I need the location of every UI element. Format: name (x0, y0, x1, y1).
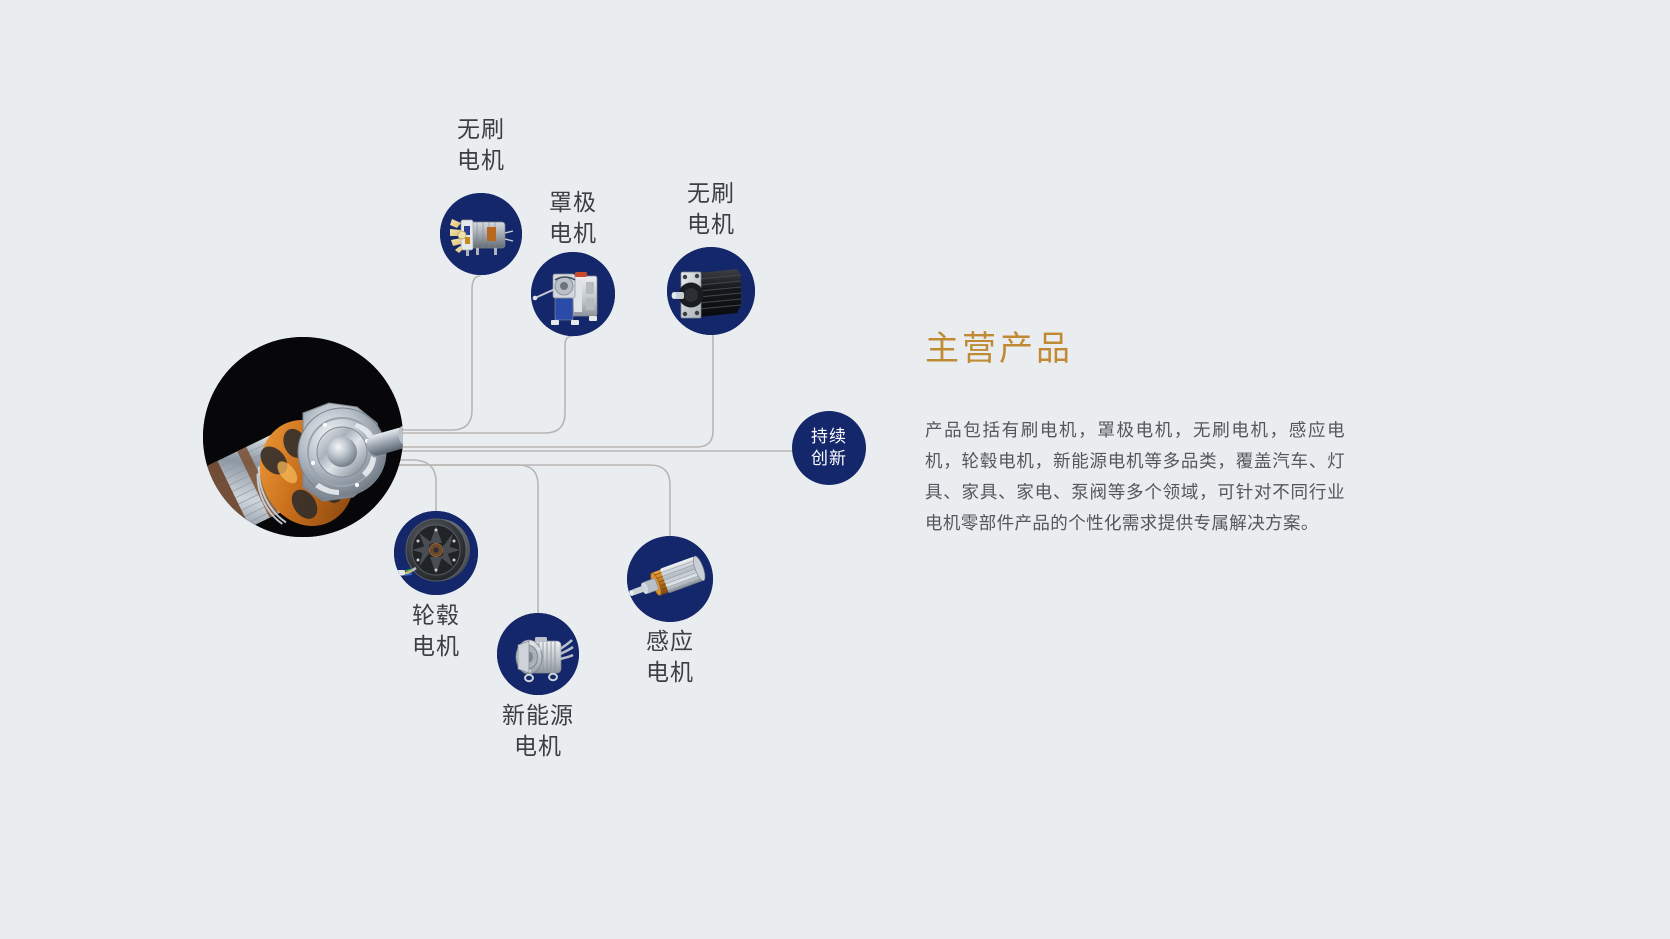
hero-motor-image (203, 337, 403, 537)
node-label-brushless-left: 无刷 电机 (430, 114, 532, 176)
node-bubble-induction[interactable] (627, 536, 713, 622)
node-label-new-energy: 新能源 电机 (473, 700, 603, 762)
node-label-hub-motor: 轮毂 电机 (385, 600, 487, 662)
shaded-pole-icon (531, 252, 615, 336)
new-energy-motor-icon (497, 613, 579, 695)
line-to-brushless-right (392, 333, 713, 447)
node-bubble-shaded-pole[interactable] (531, 252, 615, 336)
node-bubble-brushless-right[interactable] (667, 247, 755, 335)
brush-motor-icon (440, 193, 522, 275)
hero-motor-art (203, 337, 403, 537)
node-bubble-brushless-left[interactable] (440, 193, 522, 275)
panel-title: 主营产品 (925, 325, 1355, 373)
node-bubble-new-energy[interactable] (497, 613, 579, 695)
panel-body: 产品包括有刷电机，罩极电机，无刷电机，感应电机，轮毂电机，新能源电机等多品类，覆… (925, 415, 1345, 539)
induction-rotor-icon (627, 536, 713, 622)
line-to-brushless-left (392, 276, 480, 430)
node-label-induction: 感应 电机 (619, 626, 721, 688)
hub-motor-icon (394, 511, 478, 595)
node-label-shaded-pole: 罩极 电机 (522, 187, 624, 249)
infographic-canvas: 持续 创新 无刷 电机 (0, 0, 1670, 939)
node-label-brushless-right: 无刷 电机 (660, 178, 762, 240)
line-to-hub (392, 460, 436, 512)
stepper-motor-icon (667, 247, 755, 335)
line-to-shaded-pole (392, 336, 573, 433)
badge-continuous-innovation[interactable]: 持续 创新 (792, 411, 866, 485)
product-description-panel: 主营产品 产品包括有刷电机，罩极电机，无刷电机，感应电机，轮毂电机，新能源电机等… (925, 325, 1355, 539)
node-bubble-hub-motor[interactable] (394, 511, 478, 595)
